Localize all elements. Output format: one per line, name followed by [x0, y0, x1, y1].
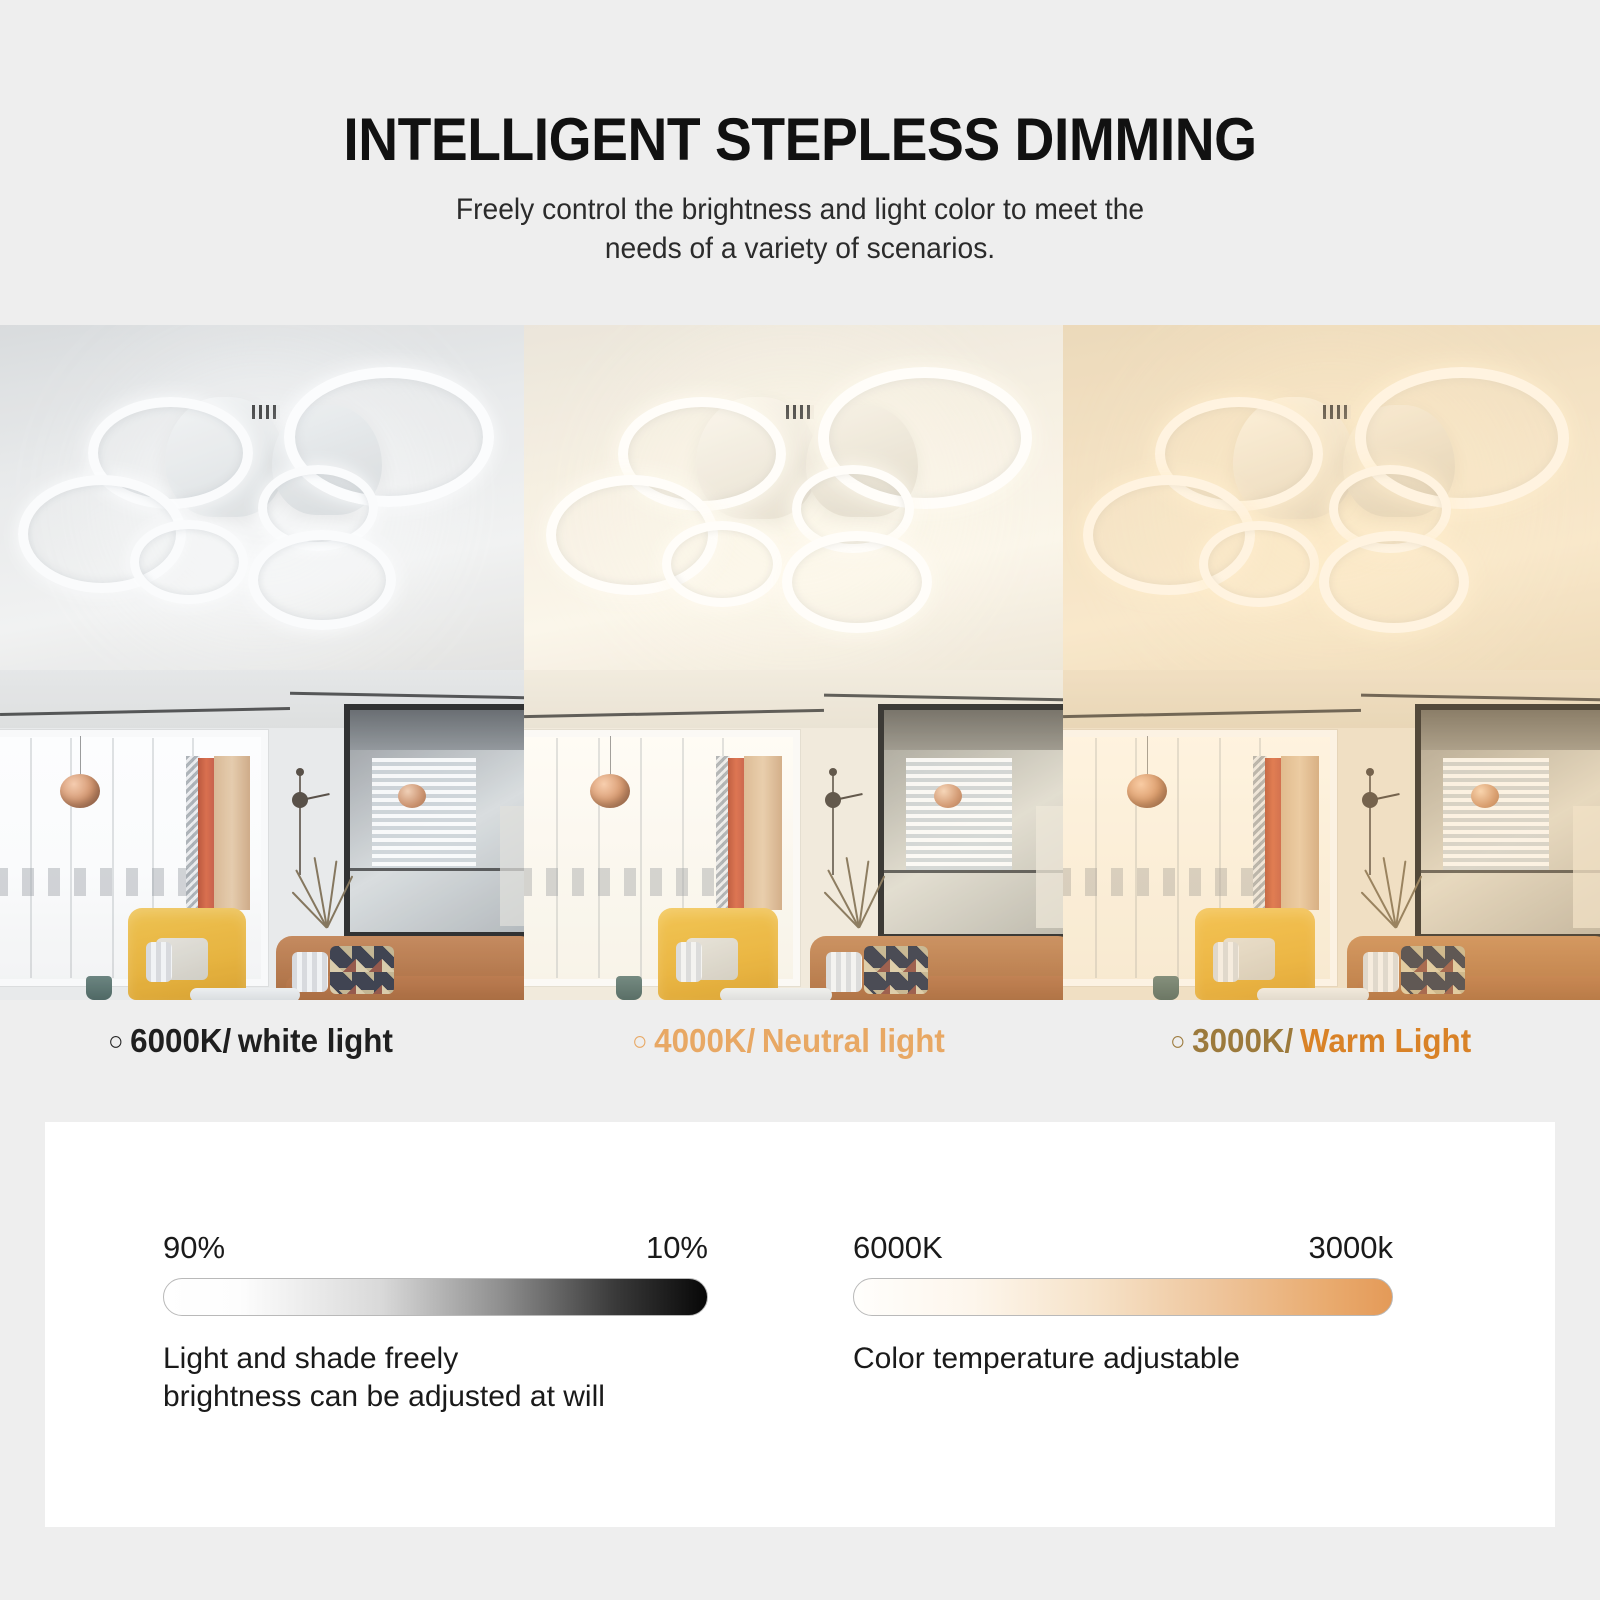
window-sill-rail	[0, 868, 196, 896]
potted-plant	[1369, 850, 1423, 936]
curtain-tan	[744, 756, 782, 910]
brightness-max-label: 90%	[163, 1230, 225, 1266]
dimming-controls-card: 90% 10% Light and shade freely brightnes…	[45, 1122, 1555, 1527]
scene-neutral	[524, 325, 1063, 1000]
armchair-cushion-check	[146, 942, 172, 982]
brightness-caption: Light and shade freely brightness can be…	[163, 1340, 708, 1417]
led-ring-chandelier	[524, 325, 1063, 670]
room-lower-neutral	[524, 670, 1063, 1000]
potted-plant	[300, 850, 354, 936]
page-title: INTELLIGENT STEPLESS DIMMING	[64, 110, 1536, 170]
caption-white-kelvin: 6000K/	[130, 1022, 231, 1060]
led-ring-chandelier	[1063, 325, 1600, 670]
sheer-curtain-fold-3	[1177, 738, 1179, 978]
sofa-cushion-check	[826, 952, 862, 992]
ring-bottom-right	[1319, 531, 1469, 633]
sheer-curtain-fold-3	[112, 738, 114, 978]
mirror-blinds	[906, 758, 1012, 870]
caption-neutral-light: ○4000K/Neutral light	[632, 1022, 945, 1060]
floor-vase	[616, 976, 642, 1000]
mirror-pendant-reflection	[398, 784, 426, 808]
armchair-cushion-check	[676, 942, 702, 982]
color-temperature-control: 6000K 3000k Color temperature adjustable	[853, 1230, 1393, 1378]
sheer-curtain-fold	[1095, 738, 1097, 978]
pendant-cord	[80, 736, 81, 778]
interior-window-mirror	[878, 704, 1063, 940]
brightness-caption-line-1: Light and shade freely	[163, 1340, 708, 1378]
mirror-pendant-reflection	[934, 784, 962, 808]
room-lower-warm	[1063, 670, 1600, 1000]
coffee-table	[190, 988, 300, 1000]
curtain-tan	[1281, 756, 1319, 910]
mirror-blinds	[372, 758, 476, 868]
circle-bullet-icon: ○	[1170, 1026, 1185, 1057]
sheer-curtain-fold-2	[598, 738, 600, 978]
photo-panel-warm-light	[1063, 325, 1600, 1000]
mirror-shelf	[1573, 806, 1600, 928]
caption-neutral-kelvin: 4000K/	[654, 1022, 755, 1060]
ring-bottom-right	[248, 530, 396, 630]
circle-bullet-icon: ○	[632, 1026, 647, 1057]
interior-window-mirror	[1415, 704, 1600, 940]
sheer-curtain-fold	[556, 738, 558, 978]
caption-white-light: ○6000K/white light	[108, 1022, 393, 1060]
curtain-tan	[214, 756, 250, 910]
color-temperature-slider[interactable]	[853, 1278, 1393, 1316]
ring-small-bottom-left	[662, 521, 782, 607]
subtitle-line-1: Freely control the brightness and light …	[48, 190, 1552, 229]
fixture-vents	[786, 405, 814, 419]
photo-panel-white-light	[0, 325, 524, 1000]
mirror-shelf	[500, 806, 524, 926]
coffee-table	[1257, 988, 1369, 1000]
sheer-curtain-fold-2	[1135, 738, 1137, 978]
page-subtitle: Freely control the brightness and light …	[48, 190, 1552, 268]
scene-white	[0, 325, 524, 1000]
window-sill-rail	[1063, 868, 1263, 896]
clock-pin-top	[829, 768, 837, 776]
window-sill-rail	[524, 868, 726, 896]
comparison-photo-strip	[0, 325, 1600, 1000]
clock-pin-top	[1366, 768, 1374, 776]
led-ring-chandelier	[0, 325, 524, 670]
pendant-cord	[1147, 736, 1148, 778]
floor-vase	[1153, 976, 1179, 1000]
color-temp-caption-line-1: Color temperature adjustable	[853, 1340, 1393, 1378]
caption-warm-name: Warm Light	[1300, 1022, 1471, 1060]
potted-plant	[832, 850, 886, 936]
brightness-slider[interactable]	[163, 1278, 708, 1316]
caption-neutral-name: Neutral light	[762, 1022, 945, 1060]
mirror-ceiling-reflection	[350, 710, 524, 750]
brightness-control: 90% 10% Light and shade freely brightnes…	[163, 1230, 708, 1417]
color-temperature-range-labels: 6000K 3000k	[853, 1230, 1393, 1266]
brightness-range-labels: 90% 10%	[163, 1230, 708, 1266]
brightness-caption-line-2: brightness can be adjusted at will	[163, 1378, 708, 1416]
interior-window-mirror	[344, 704, 524, 938]
circle-bullet-icon: ○	[108, 1026, 123, 1057]
header-section: INTELLIGENT STEPLESS DIMMING Freely cont…	[0, 0, 1600, 325]
brightness-min-label: 10%	[646, 1230, 708, 1266]
mirror-ceiling-reflection	[884, 710, 1063, 750]
color-temp-warm-label: 3000k	[1309, 1230, 1393, 1266]
clock-pin-top	[296, 768, 304, 776]
clock-hand	[306, 793, 330, 800]
caption-warm-kelvin: 3000K/	[1192, 1022, 1293, 1060]
sofa-cushion-check	[1363, 952, 1399, 992]
ring-small-bottom-left	[130, 520, 248, 604]
color-temperature-caption: Color temperature adjustable	[853, 1340, 1393, 1378]
color-temp-cool-label: 6000K	[853, 1230, 943, 1266]
photo-panel-neutral-light	[524, 325, 1063, 1000]
ring-bottom-right	[782, 531, 932, 633]
sofa-cushion-geometric	[1401, 946, 1465, 994]
sheer-curtain-fold-3	[640, 738, 642, 978]
floor-vase	[86, 976, 112, 1000]
subtitle-line-2: needs of a variety of scenarios.	[48, 229, 1552, 268]
caption-white-name: white light	[238, 1022, 393, 1060]
room-lower-white	[0, 670, 524, 1000]
sofa-cushion-geometric	[864, 946, 928, 994]
coffee-table	[720, 988, 832, 1000]
product-feature-page: INTELLIGENT STEPLESS DIMMING Freely cont…	[0, 0, 1600, 1600]
sofa-cushion-geometric	[330, 946, 394, 994]
sofa-cushion-check	[292, 952, 328, 992]
copper-pendant-lamp	[1127, 774, 1167, 808]
mirror-pendant-reflection	[1471, 784, 1499, 808]
color-temperature-caption-row: ○6000K/white light ○4000K/Neutral light …	[0, 1000, 1600, 1105]
fixture-vents	[252, 405, 280, 419]
mirror-ceiling-reflection	[1421, 710, 1600, 750]
pendant-cord	[610, 736, 611, 778]
armchair-cushion-check	[1213, 942, 1239, 982]
sheer-curtain-fold-2	[70, 738, 72, 978]
scene-warm	[1063, 325, 1600, 1000]
caption-warm-light: ○3000K/ Warm Light	[1170, 1022, 1471, 1060]
ring-small-bottom-left	[1199, 521, 1319, 607]
fixture-vents	[1323, 405, 1351, 419]
copper-pendant-lamp	[590, 774, 630, 808]
copper-pendant-lamp	[60, 774, 100, 808]
mirror-rail	[350, 868, 524, 871]
mirror-blinds	[1443, 758, 1549, 870]
mirror-shelf	[1036, 806, 1063, 928]
clock-hand	[1376, 793, 1400, 800]
sheer-curtain-fold	[30, 738, 32, 978]
clock-hand	[839, 793, 863, 800]
